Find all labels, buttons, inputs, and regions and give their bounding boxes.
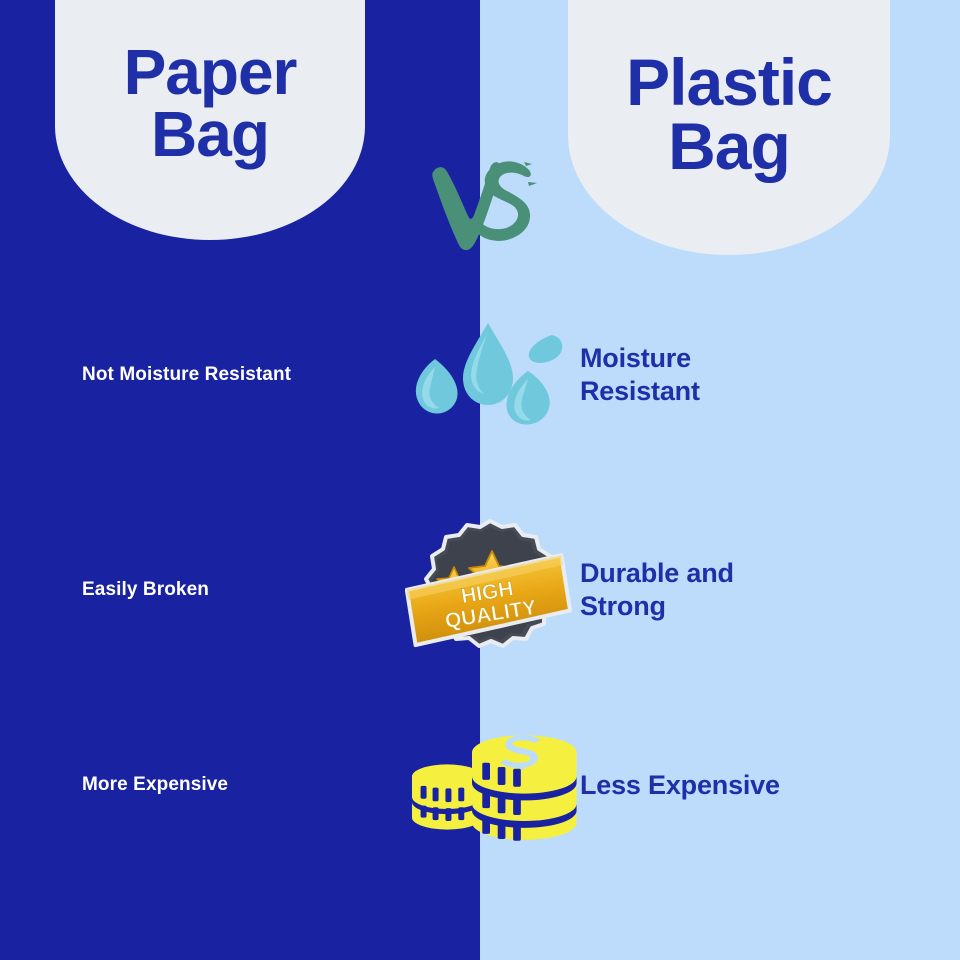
row3-right-label: Less Expensive <box>580 769 780 802</box>
row1-right-label: Moisture Resistant <box>580 342 700 408</box>
vs-brush-icon <box>424 148 542 258</box>
row3-left-cell: More Expensive <box>0 773 400 797</box>
left-title: Paper Bag <box>124 41 297 166</box>
row1-left-label: Not Moisture Resistant <box>82 363 291 387</box>
row3-right-cell: Less Expensive <box>580 769 960 802</box>
left-title-line1: Paper <box>124 41 297 104</box>
left-header-panel: Paper Bag <box>55 0 365 240</box>
row2-left-cell: Easily Broken <box>0 578 400 602</box>
water-droplets-icon <box>400 319 580 431</box>
comparison-infographic: Paper Bag Plastic Bag Not Moisture Resis… <box>0 0 960 960</box>
row1-left-cell: Not Moisture Resistant <box>0 363 400 387</box>
row2-right-label-line2: Strong <box>580 590 734 623</box>
high-quality-badge-icon: HIGH QUALITY <box>400 515 580 665</box>
comparison-row-moisture: Not Moisture Resistant Moisture Resistan… <box>0 300 960 450</box>
row3-left-label: More Expensive <box>82 773 228 797</box>
right-title-line2: Bag <box>626 114 832 179</box>
comparison-row-durability: Easily Broken <box>0 500 960 680</box>
row2-right-cell: Durable and Strong <box>580 557 960 623</box>
coin-stack-icon <box>400 718 580 852</box>
right-title-line1: Plastic <box>626 50 832 115</box>
right-header-panel: Plastic Bag <box>568 0 890 255</box>
comparison-row-price: More Expensive <box>0 710 960 860</box>
row2-left-label: Easily Broken <box>82 578 209 602</box>
right-title: Plastic Bag <box>626 50 832 179</box>
row2-right-label: Durable and Strong <box>580 557 734 623</box>
row1-right-label-line2: Resistant <box>580 375 700 408</box>
row1-right-cell: Moisture Resistant <box>580 342 960 408</box>
row3-right-label-line1: Less Expensive <box>580 769 780 802</box>
row2-right-label-line1: Durable and <box>580 557 734 590</box>
row1-right-label-line1: Moisture <box>580 342 700 375</box>
left-title-line2: Bag <box>124 103 297 166</box>
